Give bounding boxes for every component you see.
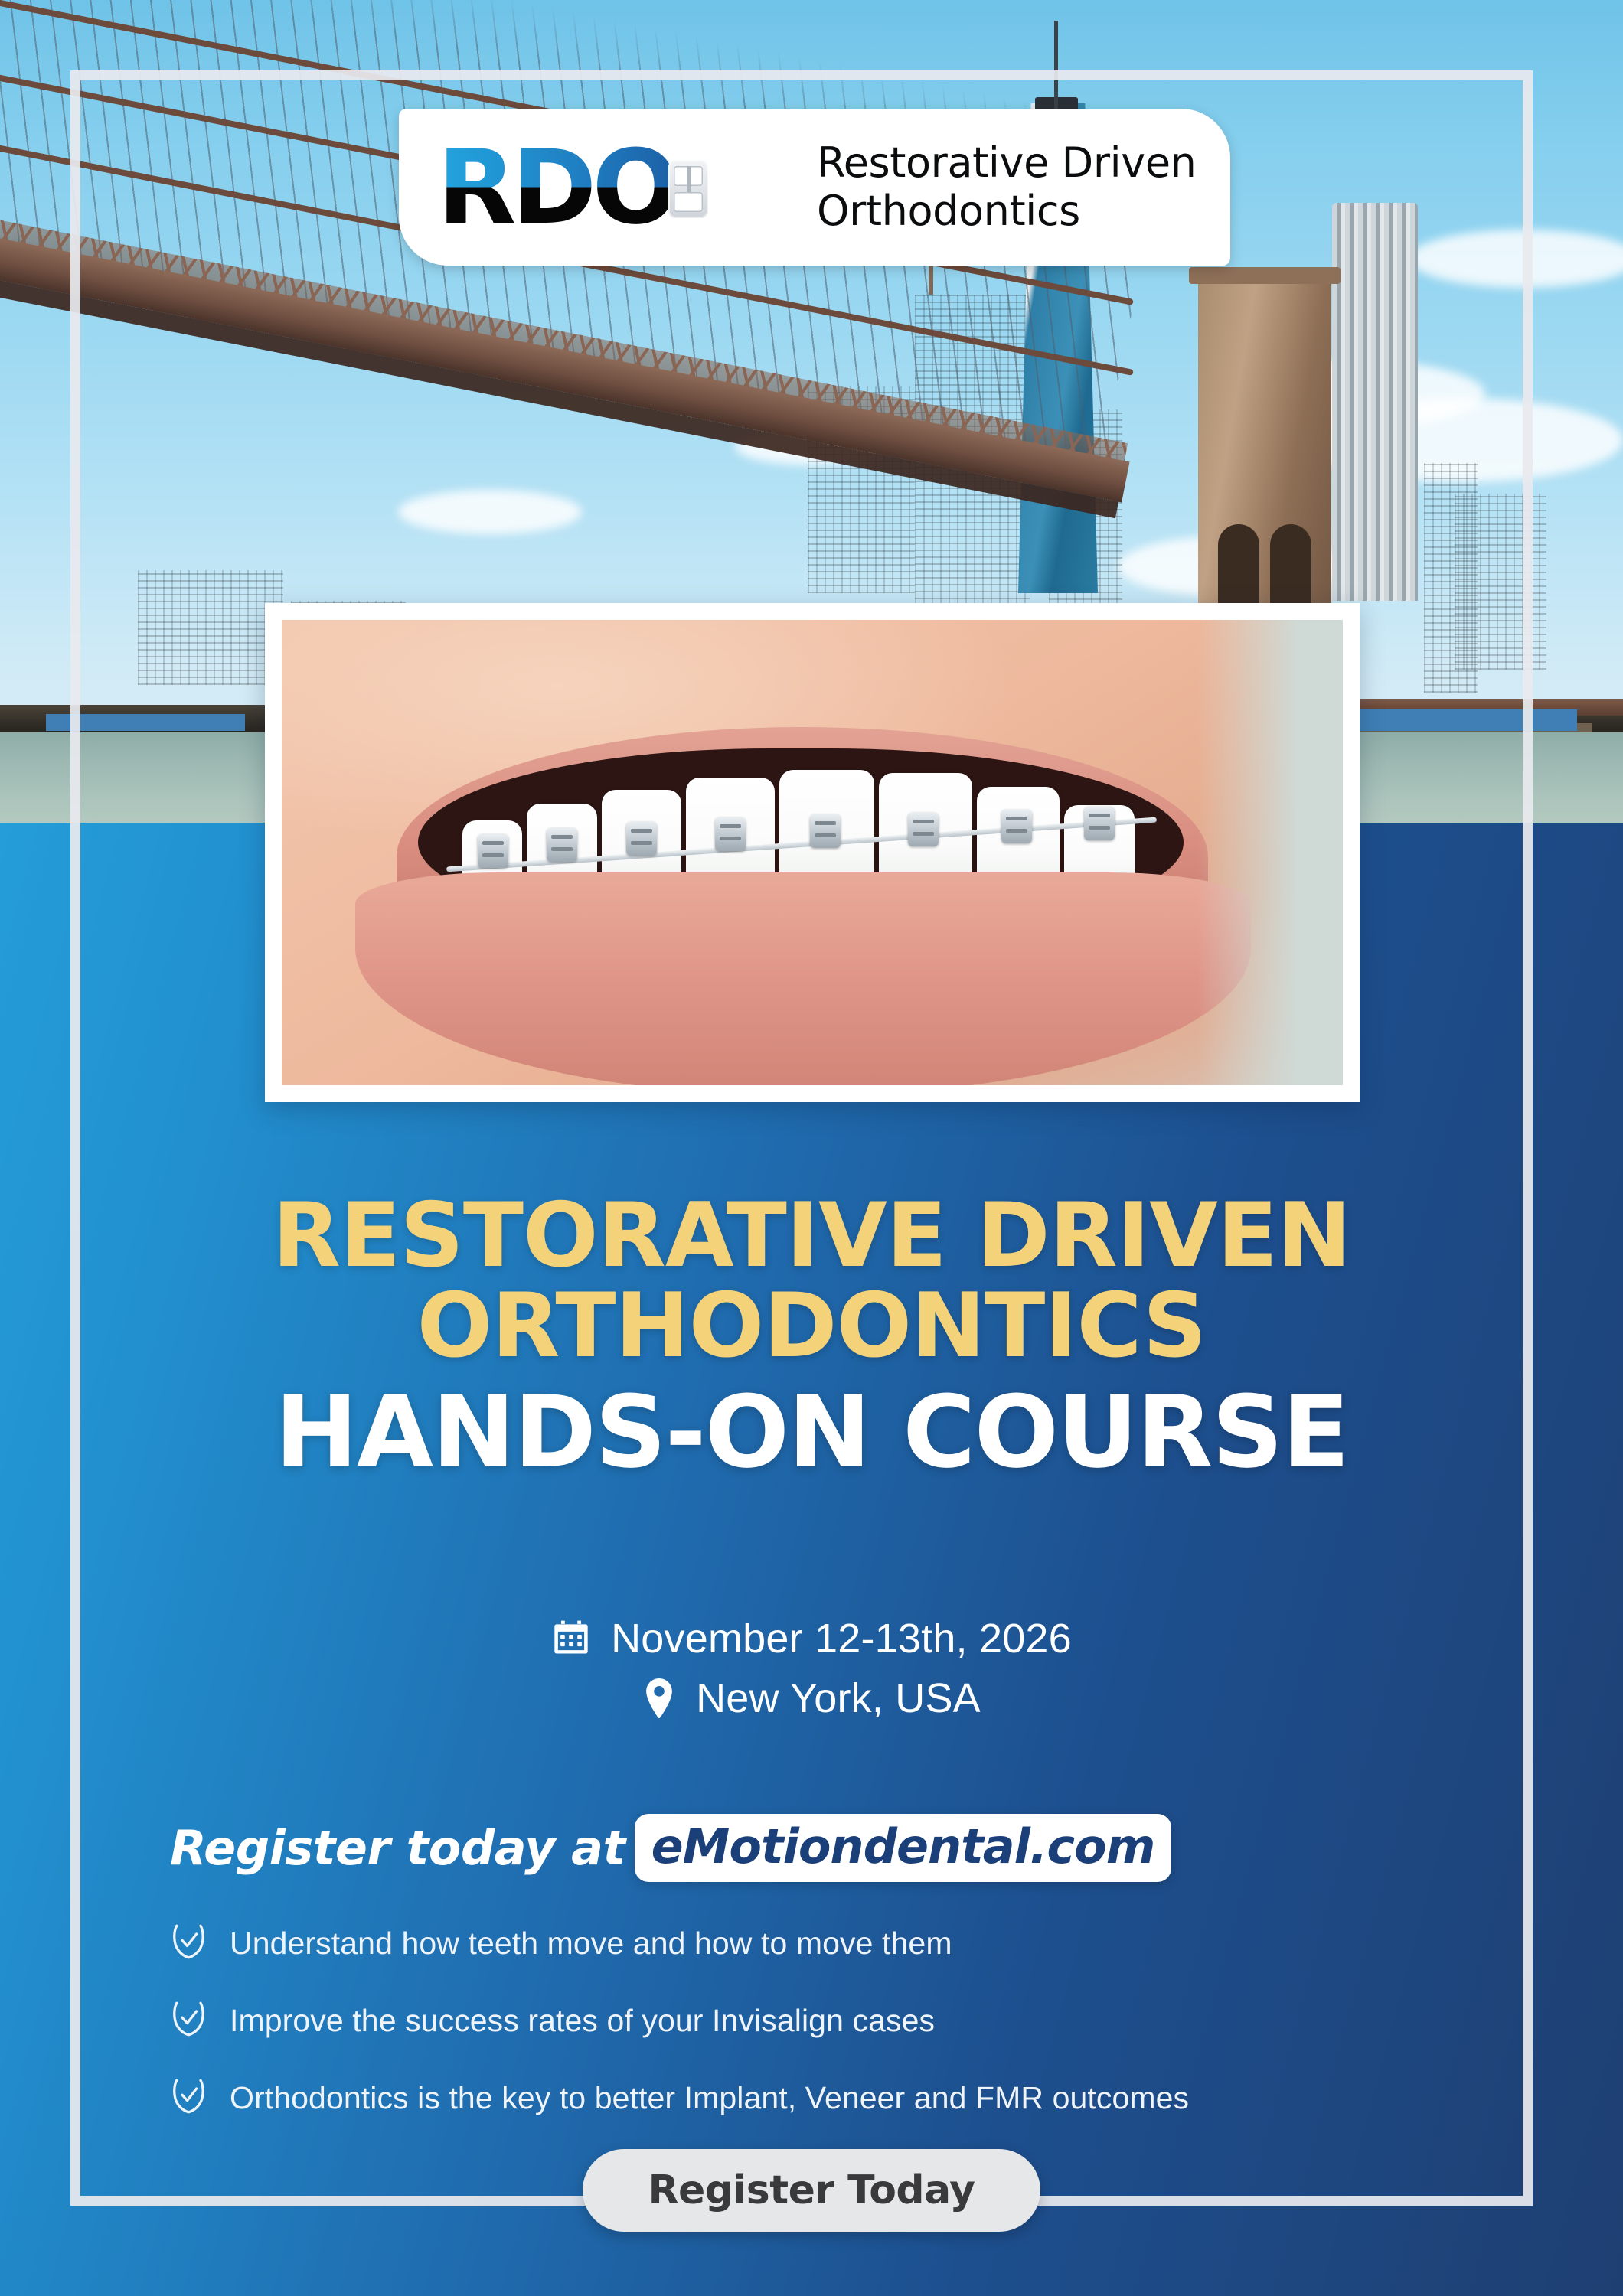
website-link[interactable]: eMotiondental.com — [635, 1814, 1172, 1882]
bracket-icon — [626, 822, 657, 856]
event-location-row: New York, USA — [0, 1675, 1623, 1722]
bracket-icon — [547, 828, 577, 862]
check-circle-icon — [170, 1998, 208, 2043]
owtc-spire — [1054, 21, 1058, 111]
rdo-wordmark: RDO RDO — [437, 137, 789, 238]
bracket-icon — [1001, 810, 1032, 843]
building-shape — [138, 570, 283, 685]
check-circle-icon — [170, 1921, 208, 1966]
event-date-row: November 12-13th, 2026 — [0, 1615, 1623, 1662]
list-item: Orthodontics is the key to better Implan… — [170, 2076, 1410, 2121]
map-pin-icon — [642, 1677, 676, 1720]
benefit-text: Improve the success rates of your Invisa… — [230, 2003, 935, 2039]
headline-line-3: HANDS-ON COURSE — [0, 1380, 1623, 1485]
building-shape — [1424, 463, 1478, 693]
tower-cap — [1189, 267, 1341, 284]
gehry-tower — [1332, 203, 1418, 601]
rdo-logo-badge: RDO RDO Restorative Driven Orthodontics — [399, 109, 1230, 266]
brand-name: Restorative Driven Orthodontics — [817, 139, 1196, 235]
bracket-icon — [1084, 807, 1115, 840]
register-prefix: Register today at — [170, 1820, 625, 1876]
calendar-icon — [551, 1618, 591, 1659]
blue-pier-shed — [1347, 709, 1577, 731]
photo-edge-blur — [1197, 620, 1343, 1085]
teeth-photo-frame — [265, 603, 1360, 1102]
register-today-button[interactable]: Register Today — [583, 2149, 1040, 2232]
headline-line-2: ORTHODONTICS — [0, 1281, 1623, 1371]
bracket-icon — [810, 814, 841, 848]
bracket-icon — [715, 817, 746, 851]
event-date: November 12-13th, 2026 — [611, 1615, 1072, 1662]
check-circle-icon — [170, 2076, 208, 2121]
bracket-slot — [687, 166, 691, 212]
benefit-text: Understand how teeth move and how to mov… — [230, 1926, 952, 1962]
headline-block: RESTORATIVE DRIVEN ORTHODONTICS HANDS-ON… — [0, 1191, 1623, 1484]
list-item: Understand how teeth move and how to mov… — [170, 1921, 1410, 1966]
list-item: Improve the success rates of your Invisa… — [170, 1998, 1410, 2043]
lower-lip — [355, 872, 1251, 1085]
brand-name-line2: Orthodontics — [817, 188, 1196, 236]
cloud-shape — [1409, 230, 1623, 288]
teeth-with-braces-photo — [282, 620, 1343, 1085]
headline-line-1: RESTORATIVE DRIVEN — [0, 1191, 1623, 1281]
register-today-label: Register Today — [648, 2167, 975, 2213]
register-line: Register today at eMotiondental.com — [170, 1814, 1171, 1882]
benefit-text: Orthodontics is the key to better Implan… — [230, 2080, 1189, 2116]
benefits-list: Understand how teeth move and how to mov… — [170, 1921, 1410, 2153]
blue-pier-shed — [46, 714, 245, 731]
orthodontic-bracket-icon — [668, 160, 708, 218]
cloud-shape — [398, 490, 582, 534]
bracket-icon — [478, 834, 508, 868]
event-location: New York, USA — [696, 1675, 981, 1722]
event-poster: RDO RDO Restorative Driven Orthodontics — [0, 0, 1623, 2296]
bracket-icon — [908, 813, 939, 846]
event-meta: November 12-13th, 2026 New York, USA — [0, 1615, 1623, 1734]
brand-name-line1: Restorative Driven — [817, 139, 1196, 188]
